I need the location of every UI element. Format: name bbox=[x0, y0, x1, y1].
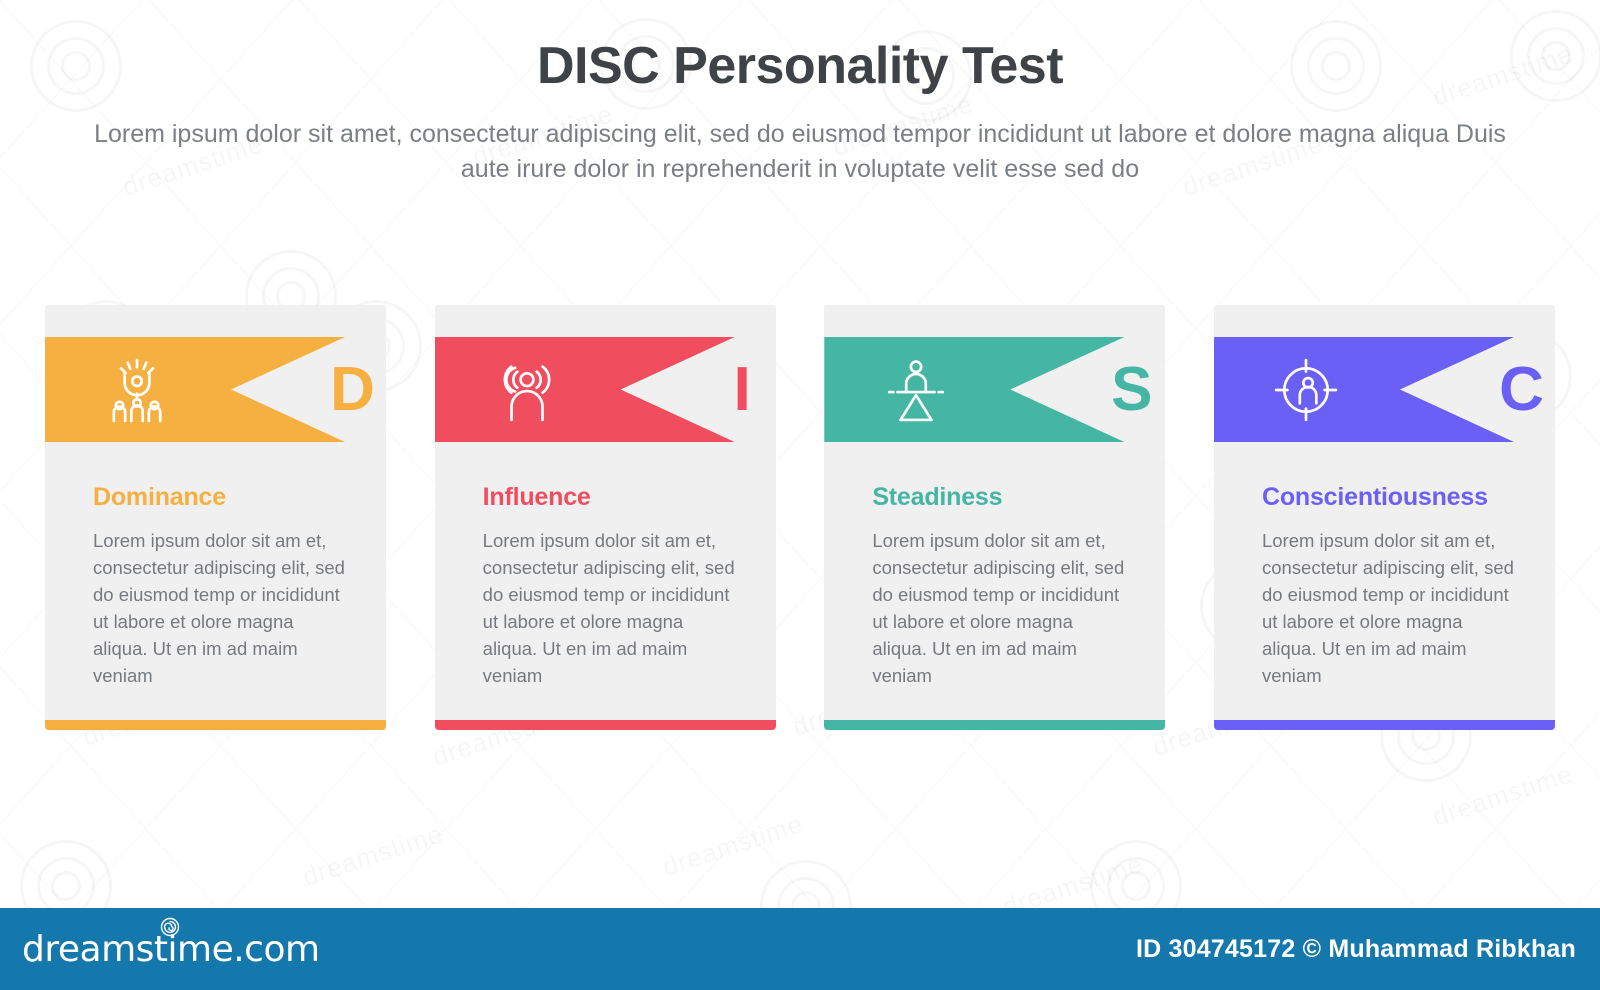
card-bottom-accent-bar bbox=[1214, 720, 1555, 730]
person-balance-fulcrum-icon bbox=[883, 357, 949, 423]
disc-card-conscientiousness[interactable]: C Conscientiousness Lorem ipsum dolor si… bbox=[1214, 305, 1555, 740]
card-body: D Dominance Lorem ipsum dolor sit am et,… bbox=[45, 305, 386, 730]
card-title: Influence bbox=[483, 483, 756, 512]
card-letter: D bbox=[300, 337, 405, 442]
card-letter: C bbox=[1469, 337, 1574, 442]
card-bottom-accent-bar bbox=[45, 720, 386, 730]
card-title: Dominance bbox=[93, 483, 366, 512]
card-title: Steadiness bbox=[872, 483, 1145, 512]
card-description: Lorem ipsum dolor sit am et, consectetur… bbox=[93, 527, 346, 689]
card-bottom-accent-bar bbox=[435, 720, 776, 730]
watermark-text: dreamstime bbox=[299, 818, 447, 893]
card-body: I Influence Lorem ipsum dolor sit am et,… bbox=[435, 305, 776, 730]
card-body: S Steadiness Lorem ipsum dolor sit am et… bbox=[824, 305, 1165, 730]
card-description: Lorem ipsum dolor sit am et, consectetur… bbox=[483, 527, 736, 689]
page-subtitle: Lorem ipsum dolor sit amet, consectetur … bbox=[90, 117, 1510, 186]
footer-bar: dreamstime.com ID 304745172 © Muhammad R… bbox=[0, 908, 1600, 990]
card-letter: I bbox=[690, 337, 795, 442]
person-broadcast-signal-icon bbox=[494, 357, 560, 423]
disc-card-influence[interactable]: I Influence Lorem ipsum dolor sit am et,… bbox=[435, 305, 776, 740]
disc-cards-row: D Dominance Lorem ipsum dolor sit am et,… bbox=[45, 305, 1555, 740]
card-description: Lorem ipsum dolor sit am et, consectetur… bbox=[1262, 527, 1515, 689]
person-target-crosshair-icon bbox=[1273, 357, 1339, 423]
card-description: Lorem ipsum dolor sit am et, consectetur… bbox=[872, 527, 1125, 689]
dreamstime-logo[interactable]: dreamstime.com bbox=[22, 929, 320, 970]
watermark-text: dreamstime bbox=[659, 808, 807, 883]
spiral-logo-icon bbox=[160, 917, 180, 937]
card-title: Conscientiousness bbox=[1262, 483, 1535, 512]
watermark-text: dreamstime bbox=[1429, 758, 1577, 833]
header: DISC Personality Test Lorem ipsum dolor … bbox=[0, 0, 1600, 186]
card-body: C Conscientiousness Lorem ipsum dolor si… bbox=[1214, 305, 1555, 730]
disc-card-steadiness[interactable]: S Steadiness Lorem ipsum dolor sit am et… bbox=[824, 305, 1165, 740]
footer-credit: ID 304745172 © Muhammad Ribkhan bbox=[1136, 935, 1576, 964]
card-bottom-accent-bar bbox=[824, 720, 1165, 730]
page-title: DISC Personality Test bbox=[0, 38, 1600, 95]
leader-raised-arms-icon bbox=[104, 357, 170, 423]
disc-card-dominance[interactable]: D Dominance Lorem ipsum dolor sit am et,… bbox=[45, 305, 386, 740]
card-letter: S bbox=[1079, 337, 1184, 442]
